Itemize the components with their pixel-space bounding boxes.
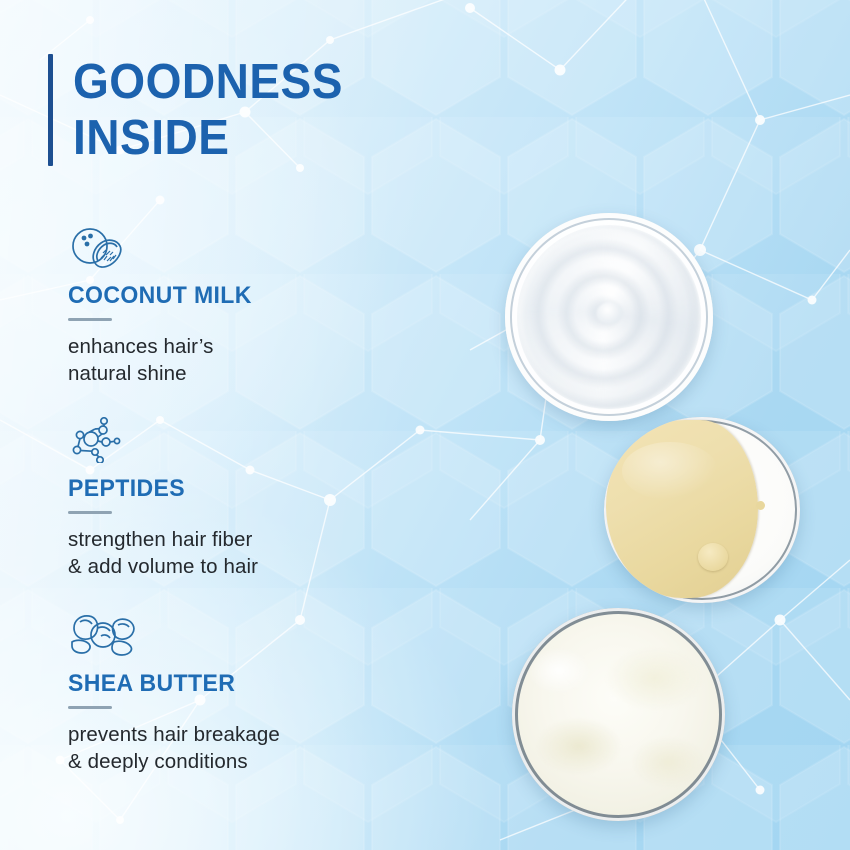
oil-highlight [622, 442, 718, 500]
goodness-inside-poster: GOODNESS INSIDE [0, 0, 850, 850]
ingredient-divider [68, 511, 112, 514]
ingredient-list: COCONUT MILK enhances hair’s natural shi… [68, 224, 398, 797]
ingredient-divider [68, 318, 112, 321]
oil-droplet-large [698, 543, 728, 571]
shea-nuts-icon [68, 612, 398, 658]
ingredient-title: PEPTIDES [68, 475, 385, 503]
page-title: GOODNESS INSIDE [48, 54, 360, 166]
ingredient-item-shea-butter: SHEA BUTTER prevents hair breakage & dee… [68, 612, 398, 775]
title-text: GOODNESS INSIDE [73, 54, 343, 166]
ingredient-title: COCONUT MILK [68, 282, 385, 310]
ingredient-divider [68, 706, 112, 709]
ingredient-item-peptides: PEPTIDES strengthen hair fiber & add vol… [68, 417, 398, 580]
shea-butter-texture [519, 615, 718, 814]
ingredient-description: enhances hair’s natural shine [68, 333, 398, 387]
ingredient-item-coconut-milk: COCONUT MILK enhances hair’s natural shi… [68, 224, 398, 387]
shea-butter-jar [512, 608, 725, 821]
golden-oil-pool [606, 420, 758, 598]
ingredient-description: prevents hair breakage & deeply conditio… [68, 721, 398, 775]
peptide-oil-jar [604, 417, 800, 603]
title-accent-bar [48, 54, 53, 166]
ingredient-description: strengthen hair fiber & add volume to ha… [68, 526, 398, 580]
ingredient-title: SHEA BUTTER [68, 670, 385, 698]
cream-center-peak [597, 302, 623, 324]
oil-droplet-small [756, 501, 765, 510]
coconut-milk-cream-jar [505, 213, 713, 421]
coconut-icon [68, 224, 398, 270]
peptide-molecule-icon [68, 417, 398, 463]
